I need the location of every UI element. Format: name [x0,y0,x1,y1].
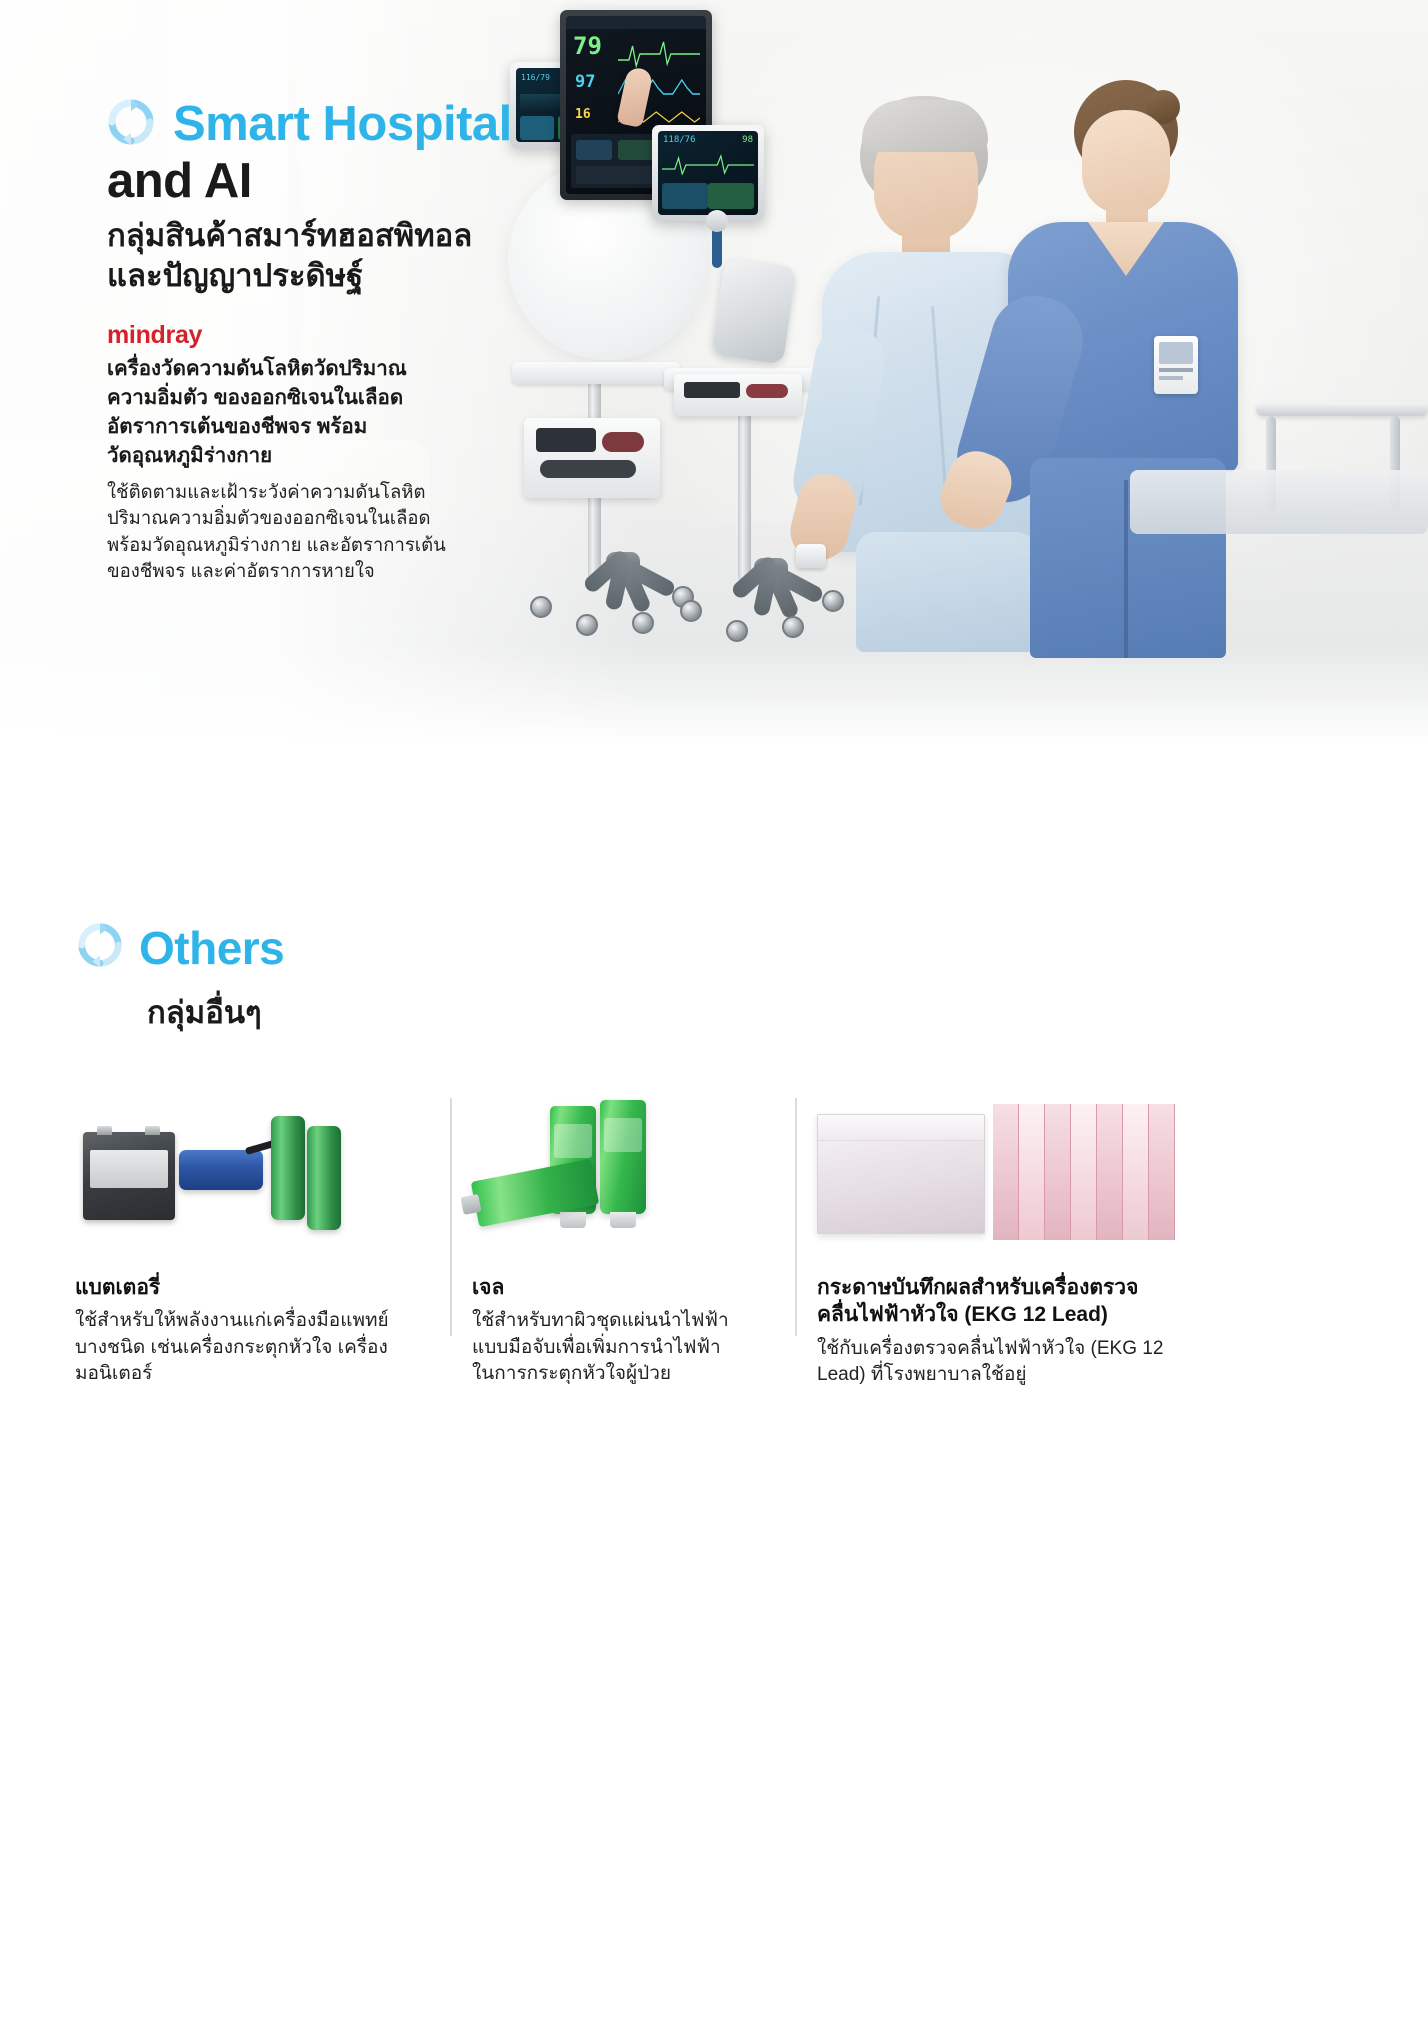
monitor-main-hr: 79 [573,34,602,58]
lithium-pack-icon [179,1150,263,1190]
card-battery-title: แบตเตอรี่ [75,1274,408,1301]
product-bold-line-1: เครื่องวัดความดันโลหิตวัดปริมาณ [107,354,575,383]
others-title-row: Others [75,920,284,975]
product-cards: แบตเตอรี่ ใช้สำหรับให้พลังงานแก่เครื่องม… [75,1098,1365,1388]
card-gel-desc-2: แบบมือจับเพื่อเพิ่มการนำไฟฟ้า [472,1335,753,1361]
card-battery-desc-3: มอนิเตอร์ [75,1361,408,1387]
monitor-right-nibp: 118/76 [663,135,696,145]
hero-title-row: Smart Hospital [105,96,575,153]
gel-tubes-image [472,1098,753,1248]
card-battery-desc-2: บางชนิด เช่นเครื่องกระตุกหัวใจ เครื่อง [75,1335,408,1361]
cylindrical-cell-icon [271,1116,305,1220]
bed-rail [1256,402,1428,416]
card-ekg-desc-2: Lead) ที่โรงพยาบาลใช้อยู่ [817,1362,1355,1388]
product-bold-line-3: อัตราการเต้นของชีพจร พร้อม [107,412,575,441]
card-ekg-title-2: คลื่นไฟฟ้าหัวใจ (EKG 12 Lead) [817,1301,1355,1328]
product-desc-line-3: พร้อมวัดอุณหภูมิร่างกาย และอัตราการเต้น [107,532,575,558]
mindray-logo: mindray [107,321,575,350]
nurse-figure [978,80,1278,660]
monitor-right-spo2: 98 [742,135,753,145]
product-desc-line-1: ใช้ติดตามและเฝ้าระวังค่าความดันโลหิต [107,479,575,505]
nibp-connector [706,210,728,232]
ekg-paper-pack-icon [817,1114,985,1234]
monitor-main-spo2: 97 [575,74,595,91]
card-divider [450,1098,452,1336]
others-thai-title: กลุ่มอื่นๆ [147,987,284,1037]
blood-pressure-cuff [712,257,797,364]
gel-tube-icon [600,1100,646,1214]
card-ekg-paper: กระดาษบันทึกผลสำหรับเครื่องตรวจ คลื่นไฟฟ… [795,1098,1355,1388]
product-bold-line-4: วัดอุณหภูมิร่างกาย [107,441,575,470]
hero-thai-line1: กลุ่มสินค้าสมาร์ทฮอสพิทอล [107,216,575,256]
card-ekg-desc-1: ใช้กับเครื่องตรวจคลื่นไฟฟ้าหัวใจ (EKG 12 [817,1336,1355,1362]
hero-photo: 116/79 72 79 97 16 [430,0,1428,762]
hero-title-line1: Smart Hospital [173,99,512,150]
hero-section: 116/79 72 79 97 16 [0,0,1428,762]
card-gel-title: เจล [472,1274,753,1301]
card-battery-desc-1: ใช้สำหรับให้พลังงานแก่เครื่องมือแพทย์ [75,1308,408,1334]
product-bold-line-2: ความอิ่มตัว ของออกซิเจนในเลือด [107,383,575,412]
circular-arrows-icon [105,96,157,153]
hero-text-block: Smart Hospital and AI กลุ่มสินค้าสมาร์ทฮ… [105,96,575,585]
circular-arrows-icon [75,920,125,975]
hero-title-line2: and AI [107,155,575,208]
card-gel-desc-3: ในการกระตุกหัวใจผู้ป่วย [472,1361,753,1387]
card-divider [795,1098,797,1336]
monitor-left-nibp: 116/79 [521,73,550,82]
ecg-waveform-icon [618,36,700,68]
accessory-tray-right [674,374,802,416]
ekg-fanfold-paper-icon [993,1104,1173,1240]
ekg-recording-paper-image [817,1098,1355,1248]
card-gel: เจล ใช้สำหรับทาผิวชุดแผ่นนำไฟฟ้า แบบมือจ… [450,1098,795,1388]
product-desc-line-2: ปริมาณความอิ่มตัวของออกซิเจนในเลือด [107,505,575,531]
others-heading: Others กลุ่มอื่นๆ [75,920,284,1037]
spo2-finger-sensor [796,544,826,568]
monitor-main-rr: 16 [575,108,591,121]
id-badge [1154,336,1198,394]
cylindrical-cell-icon [307,1126,341,1230]
card-gel-desc-1: ใช้สำหรับทาผิวชุดแผ่นนำไฟฟ้า [472,1308,753,1334]
card-ekg-title-1: กระดาษบันทึกผลสำหรับเครื่องตรวจ [817,1274,1355,1301]
lead-acid-battery-icon [83,1132,175,1220]
others-title: Others [139,925,284,971]
card-battery: แบตเตอรี่ ใช้สำหรับให้พลังงานแก่เครื่องม… [75,1098,450,1388]
product-desc-line-4: ของชีพจร และค่าอัตราการหายใจ [107,558,575,584]
patient-monitor-right[interactable]: 118/76 98 [652,125,764,221]
battery-products-image [75,1098,408,1248]
hero-thai-line2: และปัญญาประดิษฐ์ [107,256,575,296]
bed-mattress [1130,470,1428,534]
brochure-page: 116/79 72 79 97 16 [0,0,1428,2028]
